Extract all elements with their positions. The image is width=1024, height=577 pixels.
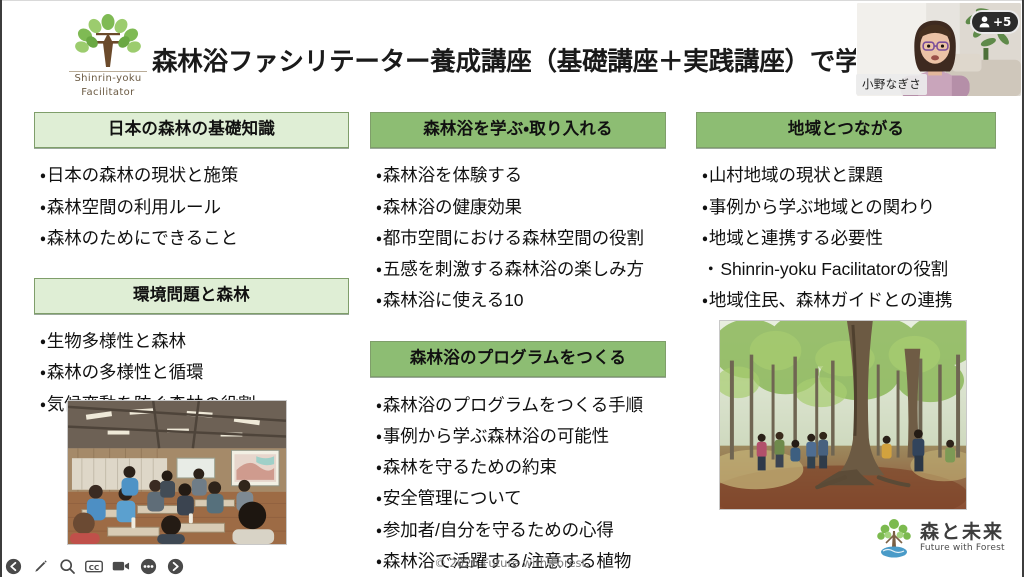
- presenter-name-label: 小野なぎさ: [856, 74, 927, 95]
- bullet-marker: ・: [40, 362, 46, 382]
- annotate-button[interactable]: [31, 557, 49, 575]
- tree-logo-icon: [62, 13, 154, 71]
- list-item: ・事例から学ぶ森林浴の可能性: [376, 420, 666, 451]
- bullet-marker: ・: [376, 426, 382, 446]
- participant-count-badge[interactable]: +5: [970, 10, 1020, 34]
- list-item-label: 森林浴に使える10: [383, 290, 524, 310]
- list-item-label: 地域住民、森林ガイドとの連携: [709, 290, 952, 310]
- list-item: ・都市空間における森林空間の役割: [376, 222, 666, 253]
- screen-share-view: Shinrin-yoku Facilitator 森林浴ファシリテーター養成講座…: [0, 0, 1024, 577]
- bullet-marker: ・: [376, 457, 382, 477]
- section-heading: 森林浴を学ぶ・取り入れる: [370, 112, 666, 148]
- next-slide-button[interactable]: [166, 557, 184, 575]
- list-item: ・事例から学ぶ地域との関わり: [702, 191, 996, 222]
- list-item: ・森林浴を体験する: [376, 160, 666, 191]
- section-heading: 日本の森林の基礎知識: [34, 112, 349, 148]
- bullet-marker: ・: [376, 488, 382, 508]
- section-item-list: ・森林浴を体験する ・森林浴の健康効果 ・都市空間における森林空間の役割 ・五感…: [376, 160, 666, 316]
- list-item: ・森林浴に使える10: [376, 285, 666, 316]
- section-block: 環境問題と森林 ・生物多様性と森林 ・森林の多様性と循環 ・気候変動を防ぐ森林の…: [34, 278, 349, 420]
- list-item-label: 森林のためにできること: [47, 228, 238, 248]
- list-item: ・森林空間の利用ルール: [40, 191, 349, 222]
- list-item-label: 森林浴のプログラムをつくる手順: [383, 395, 643, 415]
- list-item: ・地域と連携する必要性: [702, 222, 996, 253]
- section-block: 森林浴を学ぶ・取り入れる ・森林浴を体験する ・森林浴の健康効果 ・都市空間にお…: [370, 112, 666, 316]
- zoom-button[interactable]: [58, 557, 76, 575]
- list-item: ・Shinrin-yoku Facilitatorの役割: [702, 254, 996, 285]
- bullet-marker: ・: [40, 394, 46, 414]
- bullet-marker: ・: [376, 520, 382, 540]
- section-block: 地域とつながる ・山村地域の現状と課題 ・事例から学ぶ地域との関わり ・地域と連…: [696, 112, 996, 316]
- list-item: ・参加者/自分を守るための心得: [376, 514, 666, 545]
- list-item: ・安全管理について: [376, 483, 666, 514]
- participant-count-text: +5: [993, 15, 1011, 29]
- bullet-marker: ・: [702, 165, 708, 185]
- list-item-label: 都市空間における森林空間の役割: [383, 228, 644, 248]
- section-heading: 地域とつながる: [696, 112, 996, 148]
- list-item: ・森林を守るための約束: [376, 452, 666, 483]
- tree-water-logo-icon: [874, 517, 914, 559]
- captions-button[interactable]: CC: [85, 557, 103, 575]
- bullet-marker: ・: [702, 197, 708, 217]
- previous-slide-button[interactable]: [4, 557, 22, 575]
- bullet-marker: ・: [40, 197, 46, 217]
- list-item: ・五感を刺激する森林浴の楽しみ方: [376, 254, 666, 285]
- shinrin-yoku-facilitator-logo: Shinrin-yoku Facilitator: [62, 13, 154, 103]
- list-item: ・森林のためにできること: [40, 222, 349, 253]
- brand-wordmark: 森と未来 Future with Forest: [920, 523, 1005, 554]
- arrow-left-circle-icon: [5, 558, 22, 575]
- ellipsis-circle-icon: [140, 558, 157, 575]
- section-block: 日本の森林の基礎知識 ・日本の森林の現状と施策 ・森林空間の利用ルール ・森林の…: [34, 112, 349, 254]
- list-item: ・森林浴の健康効果: [376, 191, 666, 222]
- section-block: 森林浴のプログラムをつくる ・森林浴のプログラムをつくる手順 ・事例から学ぶ森林…: [370, 341, 666, 576]
- bullet-marker: ・: [376, 197, 382, 217]
- list-item: ・日本の森林の現状と施策: [40, 160, 349, 191]
- bullet-marker: ・: [702, 228, 708, 248]
- logo-text-line-2: Facilitator: [69, 86, 147, 100]
- list-item: ・生物多様性と森林: [40, 326, 349, 357]
- list-item-label: 安全管理について: [383, 488, 522, 508]
- bullet-marker: ・: [702, 290, 708, 310]
- video-button[interactable]: [112, 557, 130, 575]
- list-item-label: 森林を守るための約束: [383, 457, 557, 477]
- list-item-label: 五感を刺激する森林浴の楽しみ方: [383, 259, 644, 279]
- list-item-label: 森林の多様性と循環: [47, 362, 204, 382]
- slide-title: 森林浴ファシリテーター養成講座（基礎講座＋実践講座）で学ぶこ: [152, 41, 942, 78]
- bullet-marker: ・: [40, 228, 46, 248]
- classroom-seminar-photo: [67, 400, 287, 545]
- person-icon: [979, 16, 990, 28]
- list-item: ・森林浴のプログラムをつくる手順: [376, 389, 666, 420]
- brand-name-en: Future with Forest: [920, 543, 1005, 553]
- more-options-button[interactable]: [139, 557, 157, 575]
- section-item-list: ・森林浴のプログラムをつくる手順 ・事例から学ぶ森林浴の可能性 ・森林を守るため…: [376, 389, 666, 577]
- list-item-label: 事例から学ぶ地域との関わり: [709, 197, 935, 217]
- list-item-label: 山村地域の現状と課題: [709, 165, 883, 185]
- logo-text-line-1: Shinrin-yoku: [69, 71, 147, 86]
- section-heading: 環境問題と森林: [34, 278, 349, 314]
- bullet-marker: ・: [40, 165, 46, 185]
- presentation-toolbar: CC: [4, 555, 184, 577]
- section-item-list: ・日本の森林の現状と施策 ・森林空間の利用ルール ・森林のためにできること: [40, 160, 349, 254]
- bullet-marker: ・: [376, 290, 382, 310]
- column-3: 地域とつながる ・山村地域の現状と課題 ・事例から学ぶ地域との関わり ・地域と連…: [696, 112, 996, 316]
- list-item-label: 森林浴を体験する: [383, 165, 522, 185]
- list-item-label: 森林空間の利用ルール: [47, 197, 221, 217]
- magnifier-icon: [59, 558, 76, 575]
- column-1: 日本の森林の基礎知識 ・日本の森林の現状と施策 ・森林空間の利用ルール ・森林の…: [34, 112, 349, 419]
- list-item-label: 地域と連携する必要性: [709, 228, 883, 248]
- bullet-marker: ・: [376, 395, 382, 415]
- list-item-label: 生物多様性と森林: [47, 331, 186, 351]
- brand-name-jp: 森と未来: [920, 523, 1005, 543]
- list-item: ・山村地域の現状と課題: [702, 160, 996, 191]
- svg-text:CC: CC: [89, 562, 99, 571]
- list-item-label: 参加者/自分を守るための心得: [383, 520, 614, 540]
- list-item-label: 事例から学ぶ森林浴の可能性: [383, 426, 609, 446]
- list-item-label: 森林浴の健康効果: [383, 197, 522, 217]
- bullet-marker: ・: [40, 331, 46, 351]
- cc-icon: CC: [85, 559, 103, 574]
- arrow-right-circle-icon: [167, 558, 184, 575]
- bullet-marker: ・: [376, 228, 382, 248]
- pen-icon: [32, 558, 49, 575]
- list-item: ・森林の多様性と循環: [40, 357, 349, 388]
- list-item: ・地域住民、森林ガイドとの連携: [702, 285, 996, 316]
- section-item-list: ・山村地域の現状と課題 ・事例から学ぶ地域との関わり ・地域と連携する必要性 ・…: [702, 160, 996, 316]
- video-camera-icon: [112, 559, 130, 573]
- future-with-forest-logo: 森と未来 Future with Forest: [874, 516, 1016, 560]
- bullet-marker: ・: [376, 259, 382, 279]
- list-item-label: Shinrin-yoku Facilitatorの役割: [720, 259, 948, 279]
- bullet-marker: ・: [376, 165, 382, 185]
- bullet-marker: ・: [702, 259, 719, 279]
- column-2: 森林浴を学ぶ・取り入れる ・森林浴を体験する ・森林浴の健康効果 ・都市空間にお…: [370, 112, 666, 577]
- section-heading: 森林浴のプログラムをつくる: [370, 341, 666, 377]
- forest-walk-photo: [719, 320, 967, 510]
- list-item-label: 日本の森林の現状と施策: [47, 165, 238, 185]
